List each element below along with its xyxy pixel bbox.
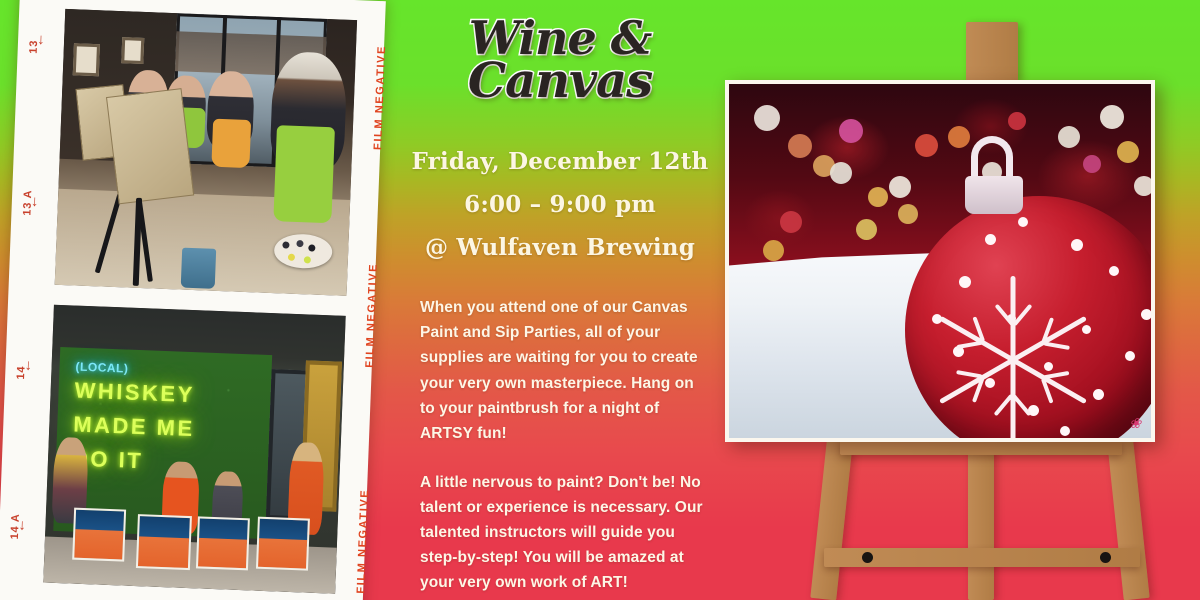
paint-blob [296, 240, 303, 247]
easel-bolt-icon [862, 552, 873, 563]
blank-canvas [106, 88, 194, 204]
ornament-snow-dot [1125, 351, 1135, 361]
ornament-snow-dot [1109, 266, 1119, 276]
artist-signature: ❀ [1129, 416, 1141, 432]
snowflake-arm [939, 316, 1014, 362]
photo-2-scene: (LOCAL) WHISKEY MADE ME DO IT [43, 305, 345, 594]
frame-arrow-icon: ↓ [24, 358, 32, 373]
flyer-text-column: Wine & Canvas Friday, December 12th 6:00… [400, 0, 720, 600]
frame-number-13a: 13 A [21, 189, 34, 215]
orange-apron [211, 119, 251, 168]
bokeh-light [763, 240, 784, 261]
frame-arrow-icon: ↓ [18, 518, 26, 533]
finished-painting [196, 516, 250, 570]
bokeh-light [839, 119, 863, 143]
easel-canvas-ledge [840, 440, 1122, 455]
bokeh-light [1008, 112, 1026, 130]
bokeh-light [788, 134, 812, 158]
easel-bolt-icon [1100, 552, 1111, 563]
ornament-snow-dot [1141, 309, 1151, 320]
finished-painting [136, 514, 192, 570]
finished-painting [256, 517, 310, 571]
event-flyer: ↓ 13 ↓ 13 A ↓ 14 ↓ 14 A FILM NEGATIVE FI… [0, 0, 1200, 600]
wine-and-canvas-logo: Wine & Canvas [400, 16, 720, 104]
ornament-snow-dot [1071, 239, 1083, 251]
paint-blob [288, 254, 295, 261]
finished-painting [72, 508, 126, 562]
film-strip-body: ↓ 13 ↓ 13 A ↓ 14 ↓ 14 A FILM NEGATIVE FI… [0, 0, 386, 600]
event-date: Friday, December 12th [400, 148, 720, 175]
frame-number-13: 13 [28, 40, 41, 54]
snowflake-arm [939, 358, 1014, 404]
wall-art-icon [121, 37, 144, 64]
easel-leg-center [968, 430, 994, 600]
ornament-snow-dot [985, 234, 996, 245]
ornament-cap [965, 176, 1023, 214]
bokeh-light [856, 219, 877, 240]
film-strip-collage: ↓ 13 ↓ 13 A ↓ 14 ↓ 14 A FILM NEGATIVE FI… [0, 0, 404, 600]
bokeh-light [1134, 176, 1151, 196]
ornament-snow-dot [1018, 217, 1028, 227]
green-apron [273, 125, 335, 223]
event-time: 6:00 – 9:00 pm [400, 191, 720, 218]
logo-line-canvas: Canvas [400, 58, 720, 104]
paint-blob [308, 244, 315, 251]
description-paragraph-2: A little nervous to paint? Don't be! No … [420, 470, 706, 596]
bokeh-light [830, 162, 852, 184]
wall-art-icon [73, 43, 100, 76]
bokeh-light [915, 134, 938, 157]
frame-number-14: 14 [15, 365, 28, 379]
paint-blob [282, 241, 289, 248]
photo-paint-and-sip-class [55, 9, 357, 296]
snowflake-arm [1012, 316, 1087, 362]
film-negative-label: FILM NEGATIVE [372, 45, 388, 150]
snowflake-arm [1011, 276, 1016, 360]
ornament-painting: ❀ [729, 84, 1151, 438]
description-paragraph-1: When you attend one of our Canvas Paint … [420, 295, 706, 446]
brush-cup [181, 248, 217, 289]
bokeh-light [868, 187, 888, 207]
easel-top-post [966, 22, 1018, 82]
frame-arrow-icon: ↓ [31, 194, 39, 209]
frame-number-14a: 14 A [9, 513, 22, 539]
photo-neon-whiskey-wall: (LOCAL) WHISKEY MADE ME DO IT [43, 305, 345, 594]
snowflake-arm [1012, 358, 1087, 404]
bokeh-light [780, 211, 802, 233]
bokeh-light [1117, 141, 1139, 163]
painting-canvas: ❀ [725, 80, 1155, 442]
photo-1-scene [55, 9, 357, 296]
neon-line-whiskey: WHISKEY [74, 378, 195, 409]
snowflake-arm [1011, 360, 1016, 438]
snowflake-motif [927, 274, 1099, 438]
film-negative-label: FILM NEGATIVE [355, 489, 371, 594]
event-venue: @ Wulfaven Brewing [400, 234, 720, 261]
film-negative-label: FILM NEGATIVE [364, 263, 380, 368]
paint-blob [304, 256, 311, 263]
neon-local-sign: (LOCAL) [75, 360, 128, 376]
neon-line-made-me: MADE ME [73, 412, 195, 443]
frame-arrow-icon: ↓ [37, 32, 45, 47]
